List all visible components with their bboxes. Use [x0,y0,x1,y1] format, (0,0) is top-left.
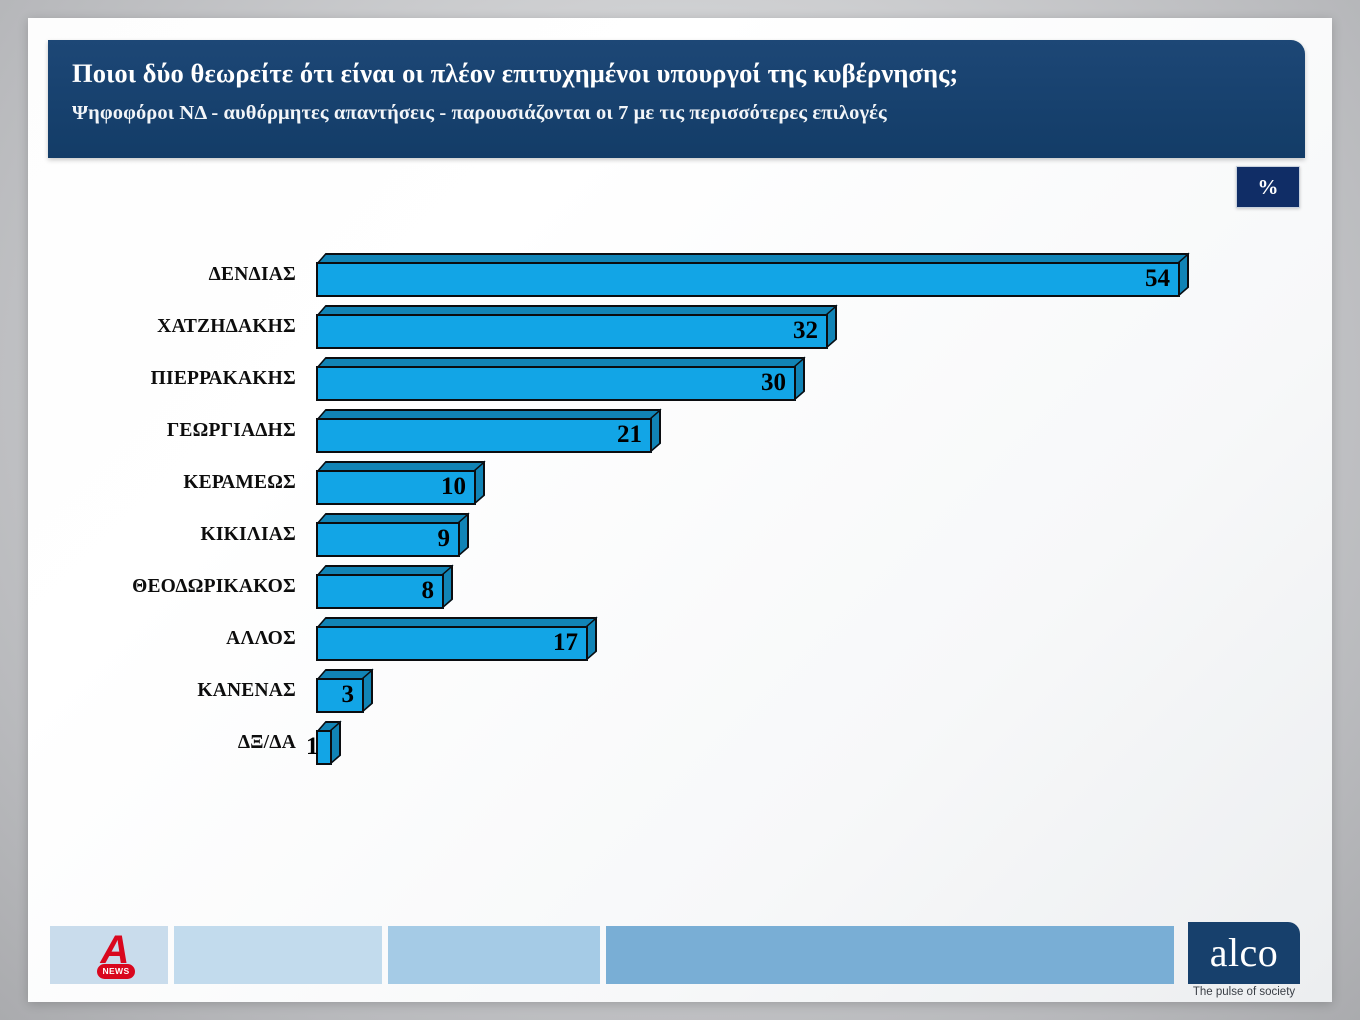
category-label: ΑΛΛΟΣ [28,617,296,661]
category-label: ΔΞ/ΔΑ [28,721,296,765]
bar-side-face [442,564,453,609]
alco-logo-text: alco [1188,922,1300,984]
category-label: ΚΕΡΑΜΕΩΣ [28,461,296,505]
category-label: ΔΕΝΔΙΑΣ [28,253,296,297]
bar: 54 [316,253,1180,297]
bar-value-label: 21 [617,418,642,453]
bar: 1 [316,721,332,765]
bar-side-face [826,304,837,349]
slide-canvas: Ποιοι δύο θεωρείτε ότι είναι οι πλέον επ… [28,18,1332,1002]
bar-side-face [1178,252,1189,297]
footer-block-2 [174,926,382,984]
bar-side-face [650,408,661,453]
bar-side-face [458,512,469,557]
bar-value-label: 54 [1145,262,1170,297]
bar-side-face [362,668,373,713]
bar: 3 [316,669,364,713]
bar-value-label: 17 [553,626,578,661]
bar-value-label: 32 [793,314,818,349]
category-label: ΓΕΩΡΓΙΑΔΗΣ [28,409,296,453]
bar: 8 [316,565,444,609]
bar-front-face [316,366,796,401]
bar-chart: ΔΕΝΔΙΑΣ54ΧΑΤΖΗΔΑΚΗΣ32ΠΙΕΡΡΑΚΑΚΗΣ30ΓΕΩΡΓΙ… [28,18,1332,1002]
bar-front-face [316,678,364,713]
footer-block-4 [606,926,1174,984]
bar-front-face [316,314,828,349]
alpha-news-logo: Α NEWS [90,934,140,982]
bar-side-face [794,356,805,401]
bar: 32 [316,305,828,349]
alco-logo: alco [1188,922,1300,984]
bar-front-face [316,418,652,453]
bar-value-label: 9 [438,522,451,557]
bar-front-face [316,262,1180,297]
bar-value-label: 1 [306,730,319,765]
category-label: ΧΑΤΖΗΔΑΚΗΣ [28,305,296,349]
bar-side-face [586,616,597,661]
bar-side-face [474,460,485,505]
bar: 30 [316,357,796,401]
category-label: ΘΕΟΔΩΡΙΚΑΚΟΣ [28,565,296,609]
bar: 10 [316,461,476,505]
bar: 17 [316,617,588,661]
bar-side-face [330,720,341,765]
bar-value-label: 3 [342,678,355,713]
category-label: ΚΑΝΕΝΑΣ [28,669,296,713]
bar-value-label: 30 [761,366,786,401]
bar: 9 [316,513,460,557]
alco-tagline: The pulse of society [1180,986,1308,998]
bar-value-label: 8 [422,574,435,609]
category-label: ΠΙΕΡΡΑΚΑΚΗΣ [28,357,296,401]
footer-block-3 [388,926,600,984]
bar-value-label: 10 [441,470,466,505]
alpha-news-label: NEWS [97,964,135,979]
category-label: ΚΙΚΙΛΙΑΣ [28,513,296,557]
bar: 21 [316,409,652,453]
bar-front-face [316,626,588,661]
